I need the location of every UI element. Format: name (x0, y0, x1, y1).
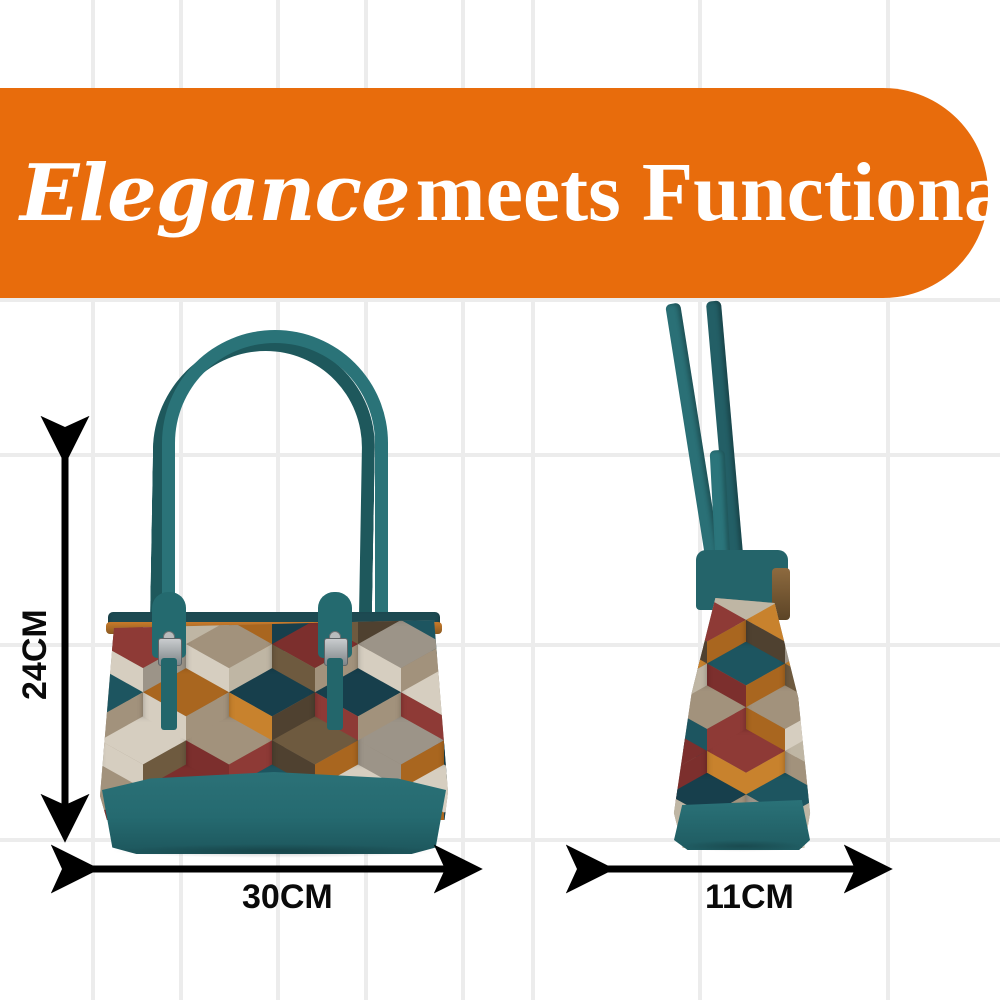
dimension-annotations: 24CM 30CM 11CM (0, 0, 1000, 1000)
front-width-dimension-label: 30CM (242, 878, 333, 917)
height-dimension-label: 24CM (16, 609, 55, 700)
dimension-arrows (0, 0, 1000, 1000)
advertisement-canvas: Elegancemeets Functionality 24CM 30CM 11… (0, 0, 1000, 1000)
side-width-dimension-label: 11CM (705, 878, 794, 917)
